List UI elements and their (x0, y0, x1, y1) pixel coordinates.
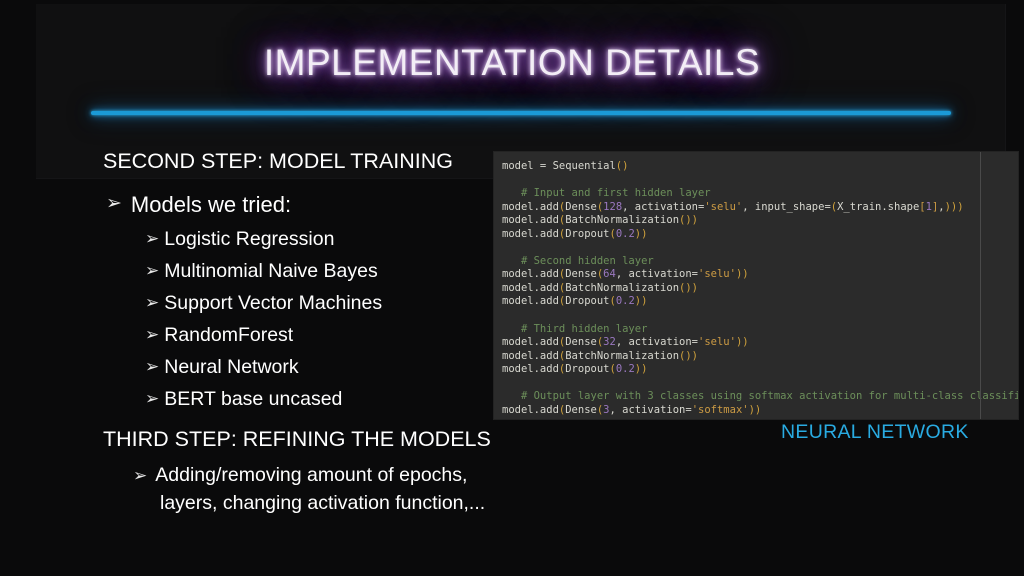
code-line: model.add(Dense(32, activation='selu')) (502, 336, 1018, 350)
code-line-comment: # Input and first hidden layer (502, 187, 1018, 201)
arrow-bullet-icon: ➢ (106, 194, 122, 213)
code-line: model.add(Dense(64, activation='selu')) (502, 268, 1018, 282)
list-item: ➢ BERT base uncased (145, 388, 342, 411)
list-item: ➢ Neural Network (145, 356, 299, 379)
code-line: model.add(Dropout(0.2)) (502, 363, 1018, 377)
code-column-guide (980, 152, 981, 419)
list-item: ➢ Logistic Regression (145, 228, 334, 251)
arrow-bullet-icon: ➢ (145, 326, 159, 343)
code-line: model.add(BatchNormalization()) (502, 282, 1018, 296)
bullet-label: Logistic Regression (164, 228, 334, 251)
heading-third-step: THIRD STEP: REFINING THE MODELS (103, 427, 491, 452)
code-line: model.add(Dropout(0.2)) (502, 295, 1018, 309)
code-screenshot: model = Sequential() # Input and first h… (494, 152, 1018, 419)
code-line: model.add(Dense(128, activation='selu', … (502, 201, 1018, 215)
list-item: ➢ RandomForest (145, 324, 293, 347)
slide: IMPLEMENTATION DETAILS SECOND STEP: MODE… (0, 0, 1024, 576)
arrow-bullet-icon: ➢ (145, 390, 159, 407)
arrow-bullet-icon: ➢ (145, 358, 159, 375)
code-line: model.add(BatchNormalization()) (502, 350, 1018, 364)
refining-line-2: layers, changing activation function,... (133, 489, 533, 517)
code-line-blank (502, 309, 1018, 323)
title-underline-rule (91, 111, 951, 115)
bullet-label: BERT base uncased (164, 388, 342, 411)
arrow-bullet-icon: ➢ (145, 262, 159, 279)
bullet-label: Multinomial Naive Bayes (164, 260, 378, 283)
code-line: model = Sequential() (502, 160, 1018, 174)
bullet-refining: ➢Adding/removing amount of epochs, layer… (133, 461, 533, 517)
bullet-models-intro: ➢ Models we tried: (106, 192, 291, 218)
code-caption: NEURAL NETWORK (781, 421, 969, 444)
arrow-bullet-icon: ➢ (145, 230, 159, 247)
arrow-bullet-icon: ➢ (145, 294, 159, 311)
bullet-label: Neural Network (164, 356, 298, 379)
heading-second-step: SECOND STEP: MODEL TRAINING (103, 149, 453, 174)
list-item: ➢ Multinomial Naive Bayes (145, 260, 378, 283)
code-line-comment: # Output layer with 3 classes using soft… (502, 390, 1018, 404)
code-line-blank (502, 377, 1018, 391)
bullet-label: Support Vector Machines (164, 292, 382, 315)
arrow-bullet-icon: ➢ (133, 467, 147, 484)
bullet-label: RandomForest (164, 324, 293, 347)
refining-line-1: Adding/removing amount of epochs, (155, 464, 467, 486)
code-line-blank (502, 174, 1018, 188)
code-line: model.add(Dense(3, activation='softmax')… (502, 404, 1018, 418)
code-line: model.add(BatchNormalization()) (502, 214, 1018, 228)
code-line: model.add(Dropout(0.2)) (502, 228, 1018, 242)
code-line-blank (502, 241, 1018, 255)
code-line-comment: # Second hidden layer (502, 255, 1018, 269)
bullet-label: Models we tried: (131, 192, 291, 218)
code-line-comment: # Third hidden layer (502, 323, 1018, 337)
page-title: IMPLEMENTATION DETAILS (0, 42, 1024, 84)
list-item: ➢ Support Vector Machines (145, 292, 382, 315)
